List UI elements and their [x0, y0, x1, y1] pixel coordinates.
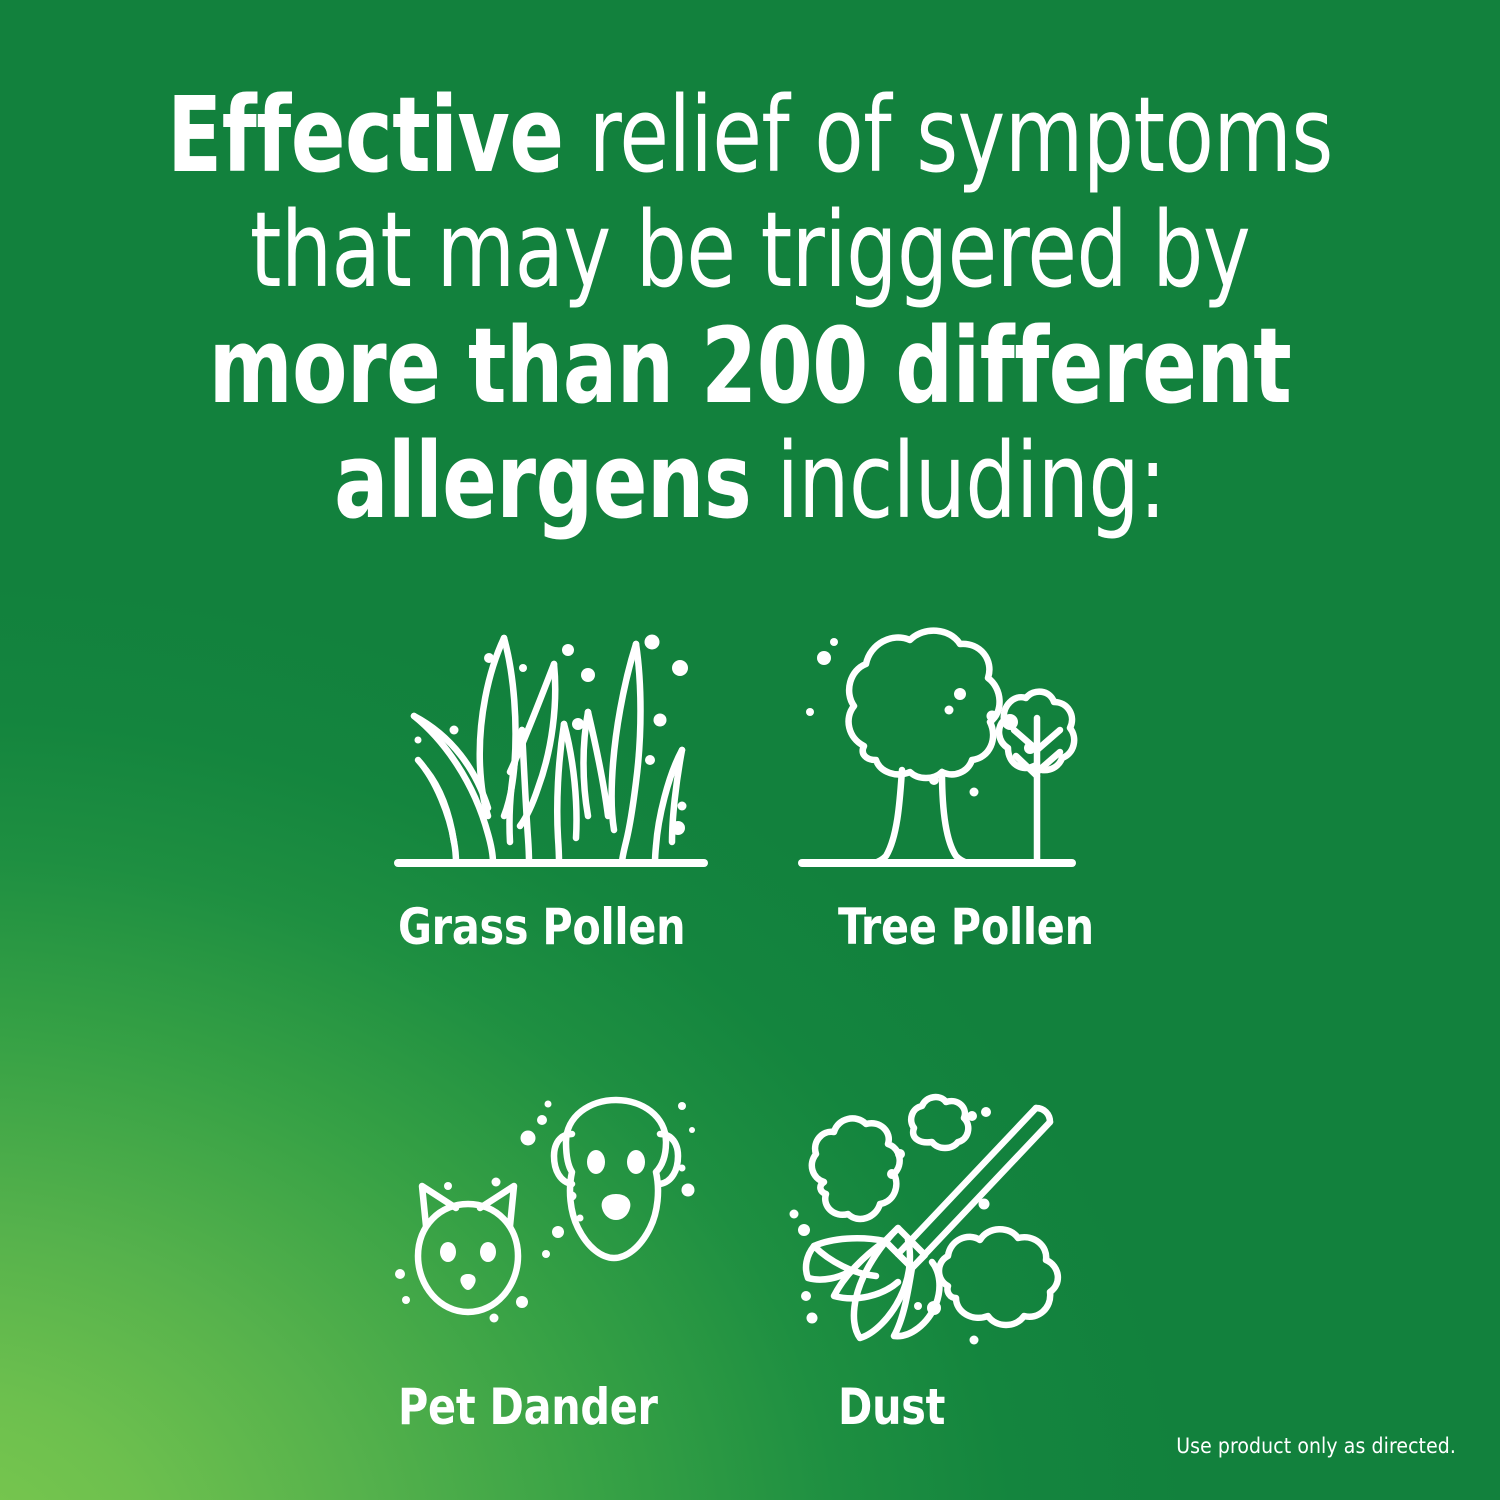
allergen-item-tree-pollen: Tree Pollen	[760, 600, 1190, 956]
allergen-item-grass-pollen: Grass Pollen	[330, 600, 760, 956]
tree-icon	[792, 620, 1082, 870]
headline-regular-2: that may be triggered by	[250, 189, 1250, 311]
disclaimer-text: Use product only as directed.	[1176, 1434, 1456, 1458]
allergen-item-dust: Dust	[760, 1076, 1190, 1436]
tree-icon-wrap	[760, 600, 1190, 870]
headline-bold-allergens: allergens	[334, 420, 751, 542]
dust-icon-wrap	[760, 1076, 1190, 1356]
headline-line-3: more than 200 different	[157, 309, 1344, 424]
grass-icon	[392, 620, 712, 870]
headline-bold-effective: Effective	[167, 74, 563, 196]
pet-dander-icon-wrap	[330, 1076, 760, 1356]
allergy-relief-poster: Effective relief of symptoms that may be…	[0, 0, 1500, 1500]
allergen-item-pet-dander: Pet Dander	[330, 1076, 760, 1436]
allergen-label-grass-pollen: Grass Pollen	[398, 898, 731, 956]
headline-regular-1: relief of symptoms	[564, 74, 1333, 196]
headline-bold-200: more than 200 different	[209, 305, 1292, 427]
allergen-row-top: Grass Pollen	[330, 600, 1190, 956]
allergen-grid: Grass Pollen	[330, 600, 1190, 1436]
headline-line-4: allergens including:	[157, 424, 1344, 539]
dust-broom-icon	[788, 1086, 1068, 1356]
grass-icon-wrap	[330, 600, 760, 870]
allergen-label-pet-dander: Pet Dander	[398, 1378, 731, 1436]
allergen-row-bottom: Pet Dander	[330, 1076, 1190, 1436]
headline-regular-4: including:	[751, 420, 1165, 542]
allergen-label-dust: Dust	[838, 1378, 1162, 1436]
headline-line-2: that may be triggered by	[157, 193, 1344, 308]
page-title: Effective relief of symptoms that may be…	[157, 78, 1344, 540]
pet-dander-icon	[382, 1086, 702, 1356]
headline-line-1: Effective relief of symptoms	[157, 78, 1344, 193]
allergen-label-tree-pollen: Tree Pollen	[838, 898, 1162, 956]
